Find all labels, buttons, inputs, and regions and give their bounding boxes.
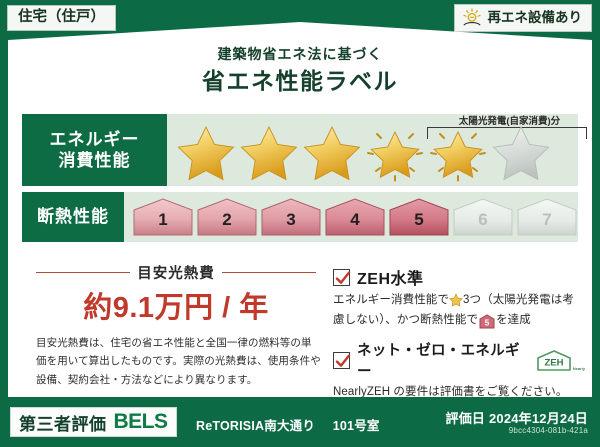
utility-cost-value: 約9.1万円 / 年 (36, 284, 316, 326)
utility-cost-heading: 目安光熱費 (36, 262, 316, 283)
energy-star-rating (167, 123, 552, 183)
insulation-level-4: 4 (324, 197, 386, 237)
label-subtitle: 建築物省エネ法に基づく (8, 44, 592, 64)
insulation-level-number: 2 (196, 210, 258, 230)
zeh-standard-desc-c: を達成 (496, 314, 531, 326)
building-type-tag: 住宅（住戸） (7, 5, 116, 31)
insulation-level-2: 2 (196, 197, 258, 237)
bels-logo-text: BELS (114, 410, 168, 434)
checkbox-checked-icon (333, 269, 350, 286)
rule-left (36, 272, 130, 274)
energy-performance-row: エネルギー 消費性能 太陽光発電(自家消費)分 (22, 114, 578, 186)
star-filled-solar (364, 123, 426, 183)
property-info: ReTORISIA南大通り 101号室 (196, 415, 380, 434)
renewable-energy-label: 再エネ設備あり (488, 11, 583, 25)
evaluation-date-label: 評価日 (446, 411, 486, 426)
insulation-level-number: 3 (260, 210, 322, 230)
insulation-level-5: 5 (388, 197, 450, 237)
insulation-level-number: 4 (324, 210, 386, 230)
svg-text:5: 5 (485, 317, 490, 327)
zeh-standard-description: エネルギー消費性能で 3つ（太陽光発電は考慮しない）、かつ断熱性能で 5 を達成 (333, 291, 585, 330)
label-footer: 第三者評価 BELS ReTORISIA南大通り 101号室 評価日 2024年… (0, 399, 600, 447)
star-empty (490, 123, 552, 183)
insulation-label: 断熱性能 (37, 206, 109, 227)
insulation-performance-value: 1 2 (124, 192, 578, 242)
energy-performance-key: エネルギー 消費性能 (22, 114, 167, 186)
insulation-level-number: 6 (452, 210, 514, 230)
label-title: 省エネ性能ラベル (8, 62, 592, 96)
insulation-level-7: 7 (516, 197, 578, 237)
zeh-logo: ZEH Nearly (536, 349, 585, 372)
evaluation-id: 9bcc4304-081b-421a (509, 426, 588, 435)
zeh-standard-desc-a: エネルギー消費性能で (333, 294, 449, 306)
insulation-level-1: 1 (132, 197, 194, 237)
evaluation-date: 評価日 2024年12月24日 (446, 408, 588, 427)
inline-star-icon (449, 293, 463, 307)
utility-cost-note: 目安光熱費は、住宅の省エネ性能と全国一律の燃料等の単価を用いて算出したものです。… (36, 334, 321, 389)
insulation-level-6: 6 (452, 197, 514, 237)
property-name: ReTORISIA南大通り (196, 419, 315, 433)
energy-label-line2: 消費性能 (59, 150, 131, 171)
utility-cost-heading-label: 目安光熱費 (137, 262, 215, 283)
net-zero-energy-title: ネット・ゼロ・エネルギー (357, 339, 529, 381)
evaluation-date-value: 2024年12月24日 (489, 411, 588, 426)
insulation-performance-key: 断熱性能 (22, 192, 124, 242)
star-filled (301, 123, 363, 183)
svg-text:ZEH: ZEH (544, 357, 563, 368)
insulation-performance-row: 断熱性能 (22, 192, 578, 242)
insulation-level-scale: 1 2 (124, 197, 578, 237)
zeh-standard-title: ZEH水準 (357, 265, 424, 289)
energy-performance-label: 住宅（住戸） 再エネ設備あり 建 (0, 0, 600, 447)
star-filled (238, 123, 300, 183)
third-party-label: 第三者評価 (19, 410, 107, 435)
star-filled (175, 123, 237, 183)
energy-performance-value: 太陽光発電(自家消費)分 (167, 114, 578, 186)
insulation-level-badge-inline: 5 (479, 314, 495, 329)
energy-label-line1: エネルギー (50, 129, 140, 150)
rule-right (222, 272, 316, 274)
insulation-level-number: 5 (388, 210, 450, 230)
checkbox-checked-icon (333, 352, 350, 369)
insulation-level-number: 1 (132, 210, 194, 230)
bels-badge: 第三者評価 BELS (10, 407, 177, 437)
net-zero-energy-row: ネット・ゼロ・エネルギー ZEH Nearly (333, 339, 585, 381)
zeh-standard-row: ZEH水準 (333, 265, 585, 289)
zeh-section: ZEH水準 エネルギー消費性能で 3つ（太陽光発電は考慮しない）、かつ断熱性能で… (333, 265, 585, 403)
insulation-level-number: 7 (516, 210, 578, 230)
zeh-logo-sublabel: Nearly (573, 367, 585, 371)
label-body-panel: 建築物省エネ法に基づく 省エネ性能ラベル エネルギー 消費性能 太陽光発電(自家… (8, 22, 592, 397)
renewable-energy-badge: 再エネ設備あり (454, 4, 593, 32)
insulation-level-3: 3 (260, 197, 322, 237)
sun-renewable-icon (461, 7, 483, 29)
star-filled-solar (427, 123, 489, 183)
room-number: 101号室 (333, 419, 380, 433)
